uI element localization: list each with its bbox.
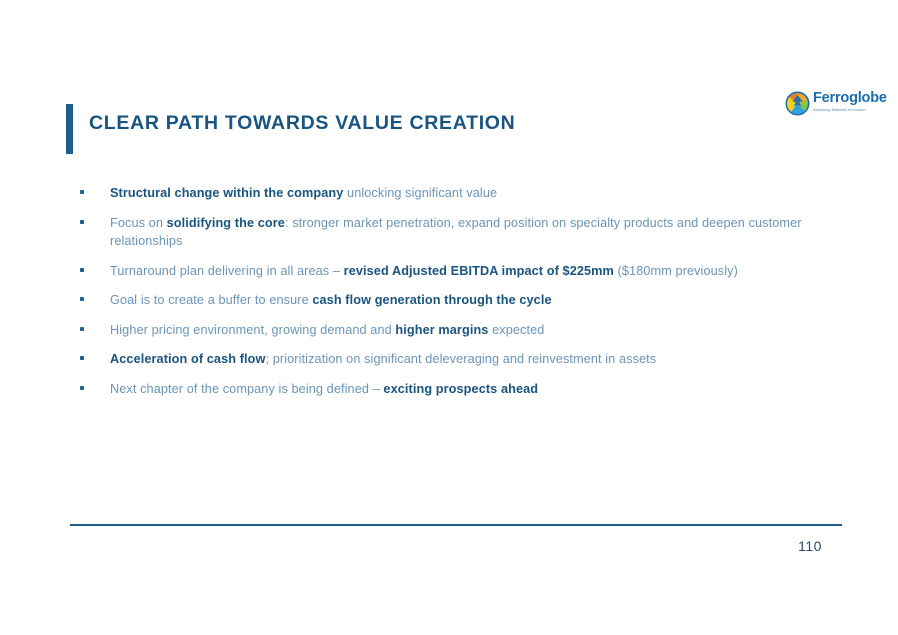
bullet-item: Turnaround plan delivering in all areas … <box>78 262 838 281</box>
bullet-emphasis: Structural change within the company <box>110 186 343 200</box>
page-title: CLEAR PATH TOWARDS VALUE CREATION <box>89 112 515 135</box>
bullet-item: Acceleration of cash flow; prioritizatio… <box>78 350 838 369</box>
bullet-emphasis: cash flow generation through the cycle <box>312 293 551 307</box>
bullet-text: Next chapter of the company is being def… <box>110 382 538 396</box>
bullet-item: Next chapter of the company is being def… <box>78 380 838 399</box>
bullet-plain: Goal is to create a buffer to ensure <box>110 293 312 307</box>
bullet-dot-icon <box>80 220 84 224</box>
bullet-plain: unlocking significant value <box>343 186 497 200</box>
bullet-dot-icon <box>80 386 84 390</box>
bullet-dot-icon <box>80 297 84 301</box>
bullet-dot-icon <box>80 356 84 360</box>
bullet-dot-icon <box>80 327 84 331</box>
company-logo: Ferroglobe Advancing Materials Innovatio… <box>783 90 879 120</box>
bullet-emphasis: exciting prospects ahead <box>383 382 538 396</box>
bullet-item: Focus on solidifying the core: stronger … <box>78 214 838 251</box>
bullet-plain: Focus on <box>110 216 167 230</box>
bullet-text: Focus on solidifying the core: stronger … <box>110 216 802 249</box>
bullet-list: Structural change within the company unl… <box>78 184 838 409</box>
title-accent-bar <box>66 104 73 154</box>
bullet-item: Higher pricing environment, growing dema… <box>78 321 838 340</box>
slide-canvas: CLEAR PATH TOWARDS VALUE CREATION Ferrog… <box>0 0 898 635</box>
bullet-dot-icon <box>80 190 84 194</box>
bullet-dot-icon <box>80 268 84 272</box>
logo-text: Ferroglobe Advancing Materials Innovatio… <box>813 90 879 113</box>
bullet-item: Goal is to create a buffer to ensure cas… <box>78 291 838 310</box>
bullet-plain: ($180mm previously) <box>614 264 738 278</box>
ferroglobe-globe-icon <box>785 91 810 116</box>
bullet-emphasis: Acceleration of cash flow <box>110 352 266 366</box>
bullet-plain: Higher pricing environment, growing dema… <box>110 323 395 337</box>
bullet-plain: Turnaround plan delivering in all areas … <box>110 264 344 278</box>
bullet-item: Structural change within the company unl… <box>78 184 838 203</box>
bullet-text: Higher pricing environment, growing dema… <box>110 323 544 337</box>
bullet-emphasis: solidifying the core <box>167 216 285 230</box>
bullet-emphasis: revised Adjusted EBITDA impact of $225mm <box>344 264 614 278</box>
bullet-text: Goal is to create a buffer to ensure cas… <box>110 293 552 307</box>
bullet-plain: expected <box>488 323 544 337</box>
bullet-emphasis: higher margins <box>395 323 488 337</box>
logo-tagline: Advancing Materials Innovation <box>813 107 879 113</box>
bullet-text: Turnaround plan delivering in all areas … <box>110 264 738 278</box>
footer-divider <box>70 524 842 526</box>
bullet-plain: ; prioritization on significant delevera… <box>266 352 657 366</box>
bullet-text: Acceleration of cash flow; prioritizatio… <box>110 352 656 366</box>
logo-wordmark: Ferroglobe <box>813 90 879 107</box>
page-number: 110 <box>780 538 840 554</box>
bullet-plain: Next chapter of the company is being def… <box>110 382 383 396</box>
bullet-text: Structural change within the company unl… <box>110 186 497 200</box>
